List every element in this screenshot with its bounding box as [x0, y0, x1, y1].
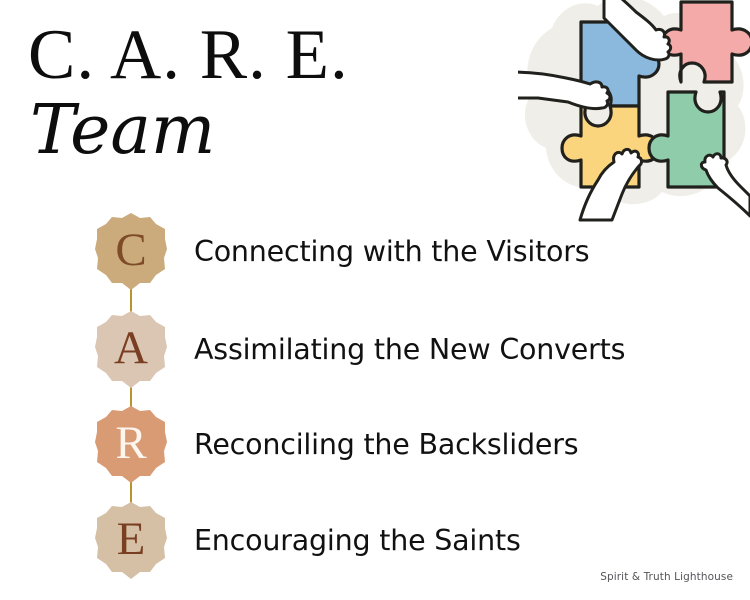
badge-e: E — [94, 501, 168, 581]
page-title: C. A. R. E. — [28, 12, 448, 98]
care-row: R Reconciling the Backsliders — [0, 399, 750, 491]
care-row: C Connecting with the Visitors — [0, 206, 750, 298]
care-team-poster: C. A. R. E. Team — [0, 0, 750, 600]
puzzle-hands-illustration — [518, 0, 750, 222]
care-text-e: Encouraging the Saints — [194, 524, 521, 558]
care-text-r: Reconciling the Backsliders — [194, 428, 578, 462]
care-text-a: Assimilating the New Converts — [194, 333, 625, 367]
badge-letter-c: C — [115, 227, 146, 277]
care-list: C Connecting with the Visitors A Assimil… — [0, 206, 750, 568]
care-row: A Assimilating the New Converts — [0, 304, 750, 396]
badge-letter-a: A — [114, 325, 148, 375]
badge-letter-r: R — [115, 420, 146, 470]
badge-r: R — [94, 405, 168, 485]
badge-c: C — [94, 212, 168, 292]
badge-letter-e: E — [117, 516, 146, 566]
footer-credit: Spirit & Truth Lighthouse — [600, 571, 733, 583]
title-block: C. A. R. E. Team — [28, 12, 448, 168]
page-subtitle: Team — [28, 94, 448, 168]
care-text-c: Connecting with the Visitors — [194, 235, 589, 269]
badge-a: A — [94, 310, 168, 390]
